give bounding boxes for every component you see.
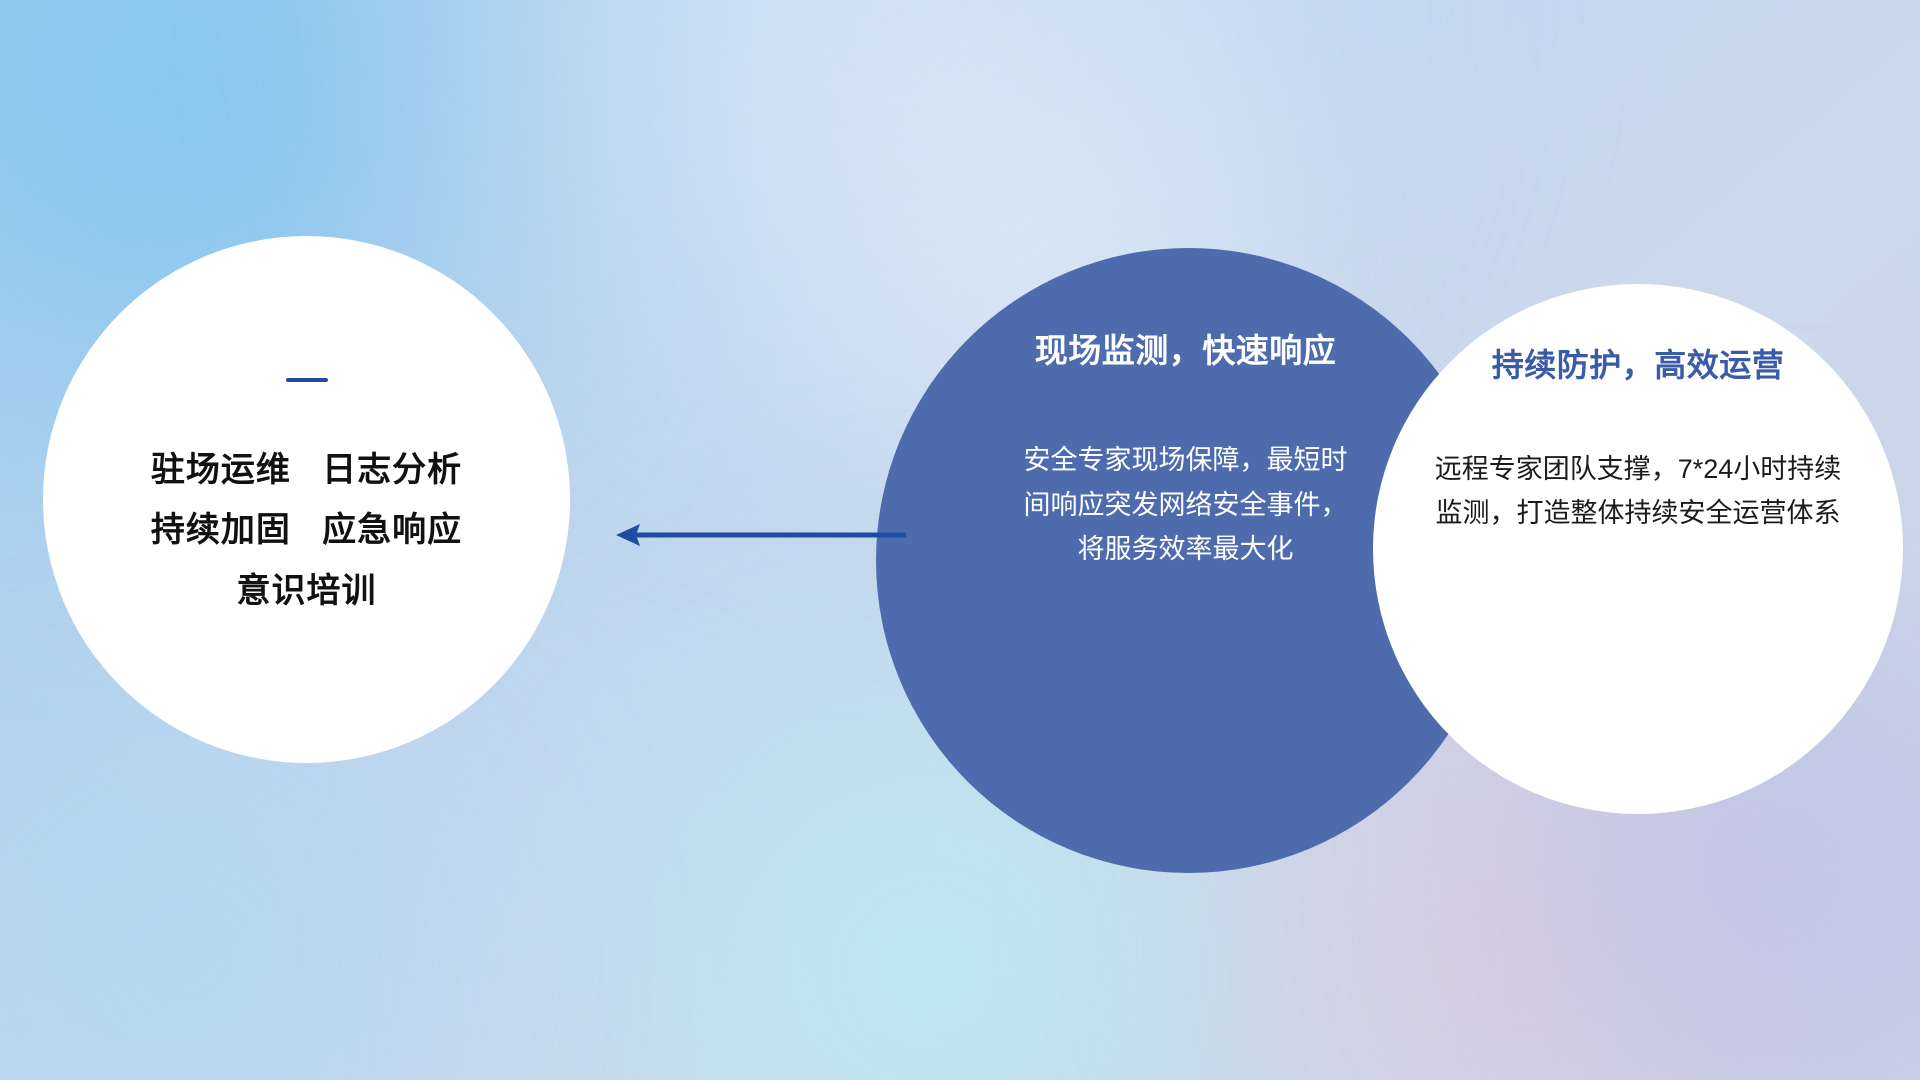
middle-circle-body: 安全专家现场保障，最短时间响应突发网络安全事件，将服务效率最大化 [1021, 438, 1351, 572]
left-circle-line-3: 意识培训 [151, 561, 462, 622]
left-circle-line-1: 驻场运维 日志分析 [151, 440, 462, 501]
divider-line [286, 378, 328, 382]
right-circle-title: 持续防护，高效运营 [1492, 340, 1785, 386]
left-arrow-icon [610, 505, 910, 565]
left-circle-content: 驻场运维 日志分析 持续加固 应急响应 意识培训 [43, 236, 570, 763]
right-circle-body: 远程专家团队支撑，7*24小时持续监测，打造整体持续安全运营体系 [1428, 448, 1848, 535]
left-circle-line-2: 持续加固 应急响应 [151, 500, 462, 561]
middle-circle-title: 现场监测，快速响应 [1035, 324, 1337, 372]
left-circle-keyword-list: 驻场运维 日志分析 持续加固 应急响应 意识培训 [151, 440, 462, 622]
right-circle-content: 持续防护，高效运营 远程专家团队支撑，7*24小时持续监测，打造整体持续安全运营… [1373, 284, 1903, 814]
slide-canvas: 现场监测，快速响应 安全专家现场保障，最短时间响应突发网络安全事件，将服务效率最… [0, 0, 1920, 1080]
